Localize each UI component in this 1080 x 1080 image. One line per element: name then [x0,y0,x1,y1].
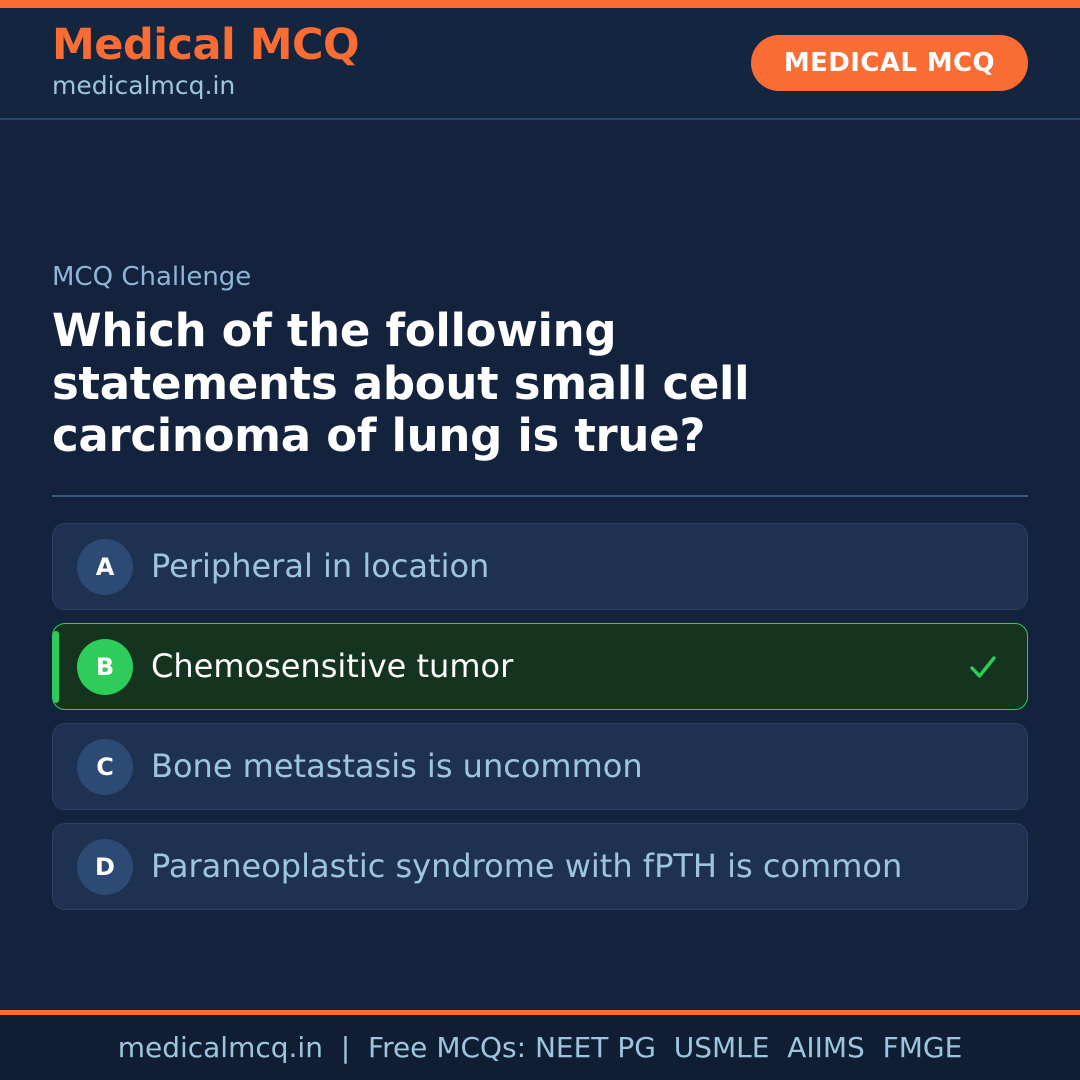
question-divider [52,495,1028,497]
footer-text: medicalmcq.in | Free MCQs: NEET PG USMLE… [118,1031,963,1064]
top-accent-bar [0,0,1080,8]
check-icon [965,649,1001,685]
brand-block: Medical MCQ medicalmcq.in [52,24,359,102]
header: Medical MCQ medicalmcq.in MEDICAL MCQ [0,8,1080,120]
correct-accent-bar [53,631,59,703]
brand-url: medicalmcq.in [52,70,359,103]
option-b-badge: B [77,639,133,695]
footer: medicalmcq.in | Free MCQs: NEET PG USMLE… [0,1015,1080,1080]
option-d-badge: D [77,839,133,895]
option-b[interactable]: B Chemosensitive tumor [52,623,1028,710]
option-d-label: Paraneoplastic syndrome with fPTH is com… [151,847,1001,885]
eyebrow-label: MCQ Challenge [52,262,1028,293]
option-d[interactable]: D Paraneoplastic syndrome with fPTH is c… [52,823,1028,910]
option-c-label: Bone metastasis is uncommon [151,747,1001,785]
option-a-label: Peripheral in location [151,547,1001,585]
option-a[interactable]: A Peripheral in location [52,523,1028,610]
mcq-card: Medical MCQ medicalmcq.in MEDICAL MCQ MC… [0,0,1080,1080]
options-list: A Peripheral in location B Chemosensitiv… [52,523,1028,910]
option-b-label: Chemosensitive tumor [151,647,965,685]
brand-title: Medical MCQ [52,24,359,68]
question-zone: MCQ Challenge Which of the following sta… [52,262,1028,463]
header-badge: MEDICAL MCQ [751,35,1028,91]
option-c-badge: C [77,739,133,795]
question-text: Which of the following statements about … [52,305,882,463]
main-content: MCQ Challenge Which of the following sta… [0,120,1080,1010]
option-a-badge: A [77,539,133,595]
option-c[interactable]: C Bone metastasis is uncommon [52,723,1028,810]
